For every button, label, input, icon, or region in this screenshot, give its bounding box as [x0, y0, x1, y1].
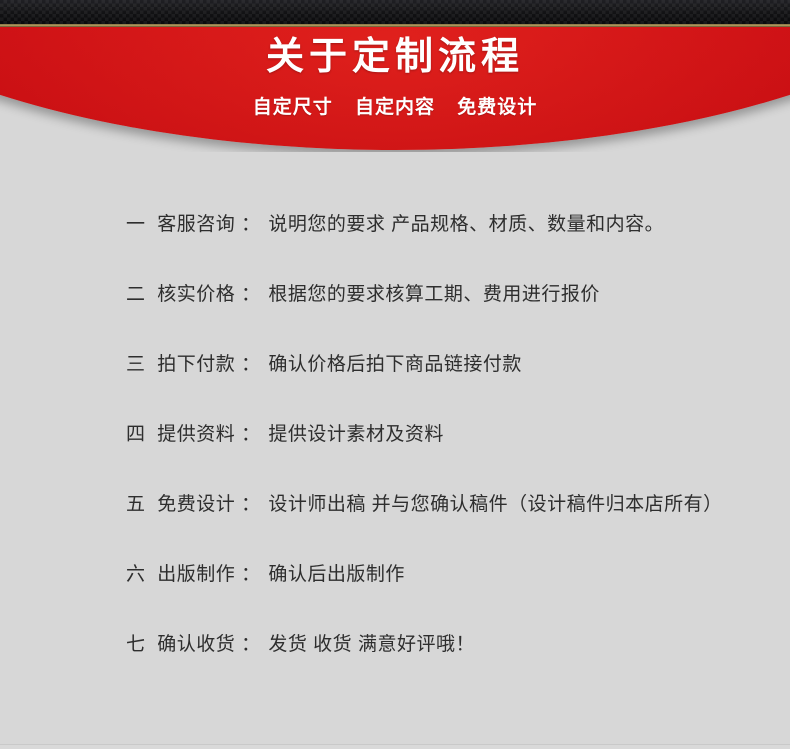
step-name: 客服咨询	[157, 214, 235, 235]
step-index: 一	[126, 214, 146, 235]
step-index: 三	[126, 354, 146, 375]
step-name: 核实价格	[157, 284, 235, 305]
banner-text-block: 关于定制流程 自定尺寸 自定内容 免费设计	[0, 0, 790, 119]
step-row: 六 出版制作 ： 确认后出版制作	[0, 540, 790, 610]
step-row: 二 核实价格 ： 根据您的要求核算工期、费用进行报价	[0, 260, 790, 330]
step-colon: ：	[241, 354, 261, 375]
step-row: 七 确认收货 ： 发货 收货 满意好评哦！	[0, 610, 790, 680]
step-description: 设计师出稿 并与您确认稿件（设计稿件归本店所有）	[268, 494, 722, 515]
custom-process-page: 关于定制流程 自定尺寸 自定内容 免费设计 一 客服咨询 ： 说明您的要求 产品…	[0, 0, 790, 749]
step-name: 免费设计	[157, 494, 235, 515]
step-name: 确认收货	[157, 634, 235, 655]
page-title: 关于定制流程	[0, 0, 790, 78]
step-description: 发货 收货 满意好评哦！	[268, 634, 475, 655]
subtitle-item-1: 自定内容	[355, 92, 435, 119]
step-colon: ：	[241, 564, 261, 585]
step-colon: ：	[241, 214, 261, 235]
step-description: 确认后出版制作	[268, 564, 405, 585]
step-index: 二	[126, 284, 146, 305]
step-row: 一 客服咨询 ： 说明您的要求 产品规格、材质、数量和内容。	[0, 190, 790, 260]
step-row: 四 提供资料 ： 提供设计素材及资料	[0, 400, 790, 470]
step-index: 六	[126, 564, 146, 585]
step-colon: ：	[241, 424, 261, 445]
step-index: 四	[126, 424, 146, 445]
bottom-spacer	[0, 745, 790, 749]
step-colon: ：	[241, 634, 261, 655]
step-description: 提供设计素材及资料	[268, 424, 444, 445]
subtitle-item-0: 自定尺寸	[253, 92, 333, 119]
step-name: 拍下付款	[157, 354, 235, 375]
process-steps-list: 一 客服咨询 ： 说明您的要求 产品规格、材质、数量和内容。 二 核实价格 ： …	[0, 190, 790, 680]
subtitle-item-2: 免费设计	[457, 92, 537, 119]
step-description: 确认价格后拍下商品链接付款	[268, 354, 522, 375]
banner-subtitle: 自定尺寸 自定内容 免费设计	[0, 78, 790, 119]
page-banner: 关于定制流程 自定尺寸 自定内容 免费设计	[0, 0, 790, 152]
step-description: 说明您的要求 产品规格、材质、数量和内容。	[268, 214, 664, 235]
step-row: 五 免费设计 ： 设计师出稿 并与您确认稿件（设计稿件归本店所有）	[0, 470, 790, 540]
step-name: 提供资料	[157, 424, 235, 445]
step-row: 三 拍下付款 ： 确认价格后拍下商品链接付款	[0, 330, 790, 400]
step-index: 七	[126, 634, 146, 655]
step-colon: ：	[241, 494, 261, 515]
step-index: 五	[126, 494, 146, 515]
step-description: 根据您的要求核算工期、费用进行报价	[268, 284, 600, 305]
step-name: 出版制作	[157, 564, 235, 585]
step-colon: ：	[241, 284, 261, 305]
